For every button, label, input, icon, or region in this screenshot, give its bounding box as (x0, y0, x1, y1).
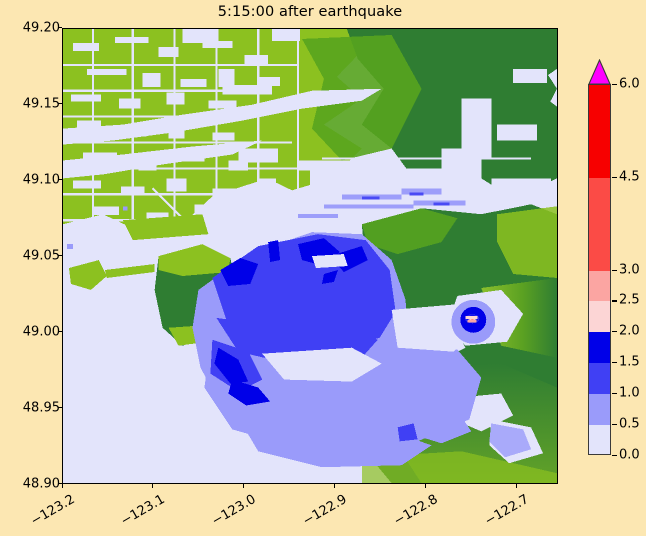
colorbar-extend-max-arrow (588, 59, 611, 85)
colorbar-band-0.5-1.0 (589, 394, 610, 425)
map-axes[interactable] (62, 28, 558, 484)
page-title: 5:15:00 after earthquake (62, 4, 558, 20)
map-raster (63, 29, 557, 483)
colorbar-band-1.0-1.5 (589, 363, 610, 394)
colorbar[interactable] (588, 59, 612, 456)
colorbar-band-4.5-6.0 (589, 85, 610, 178)
colorbar-gradient (588, 84, 611, 455)
colorbar-band-0.0-0.5 (589, 425, 610, 455)
colorbar-band-1.5-2.0 (589, 332, 610, 363)
colorbar-band-2.0-2.5 (589, 301, 610, 332)
colorbar-band-2.5-3.0 (589, 271, 610, 302)
matplotlib-figure: 5:15:00 after earthquake (0, 0, 646, 536)
colorbar-band-3.0-4.5 (589, 178, 610, 271)
